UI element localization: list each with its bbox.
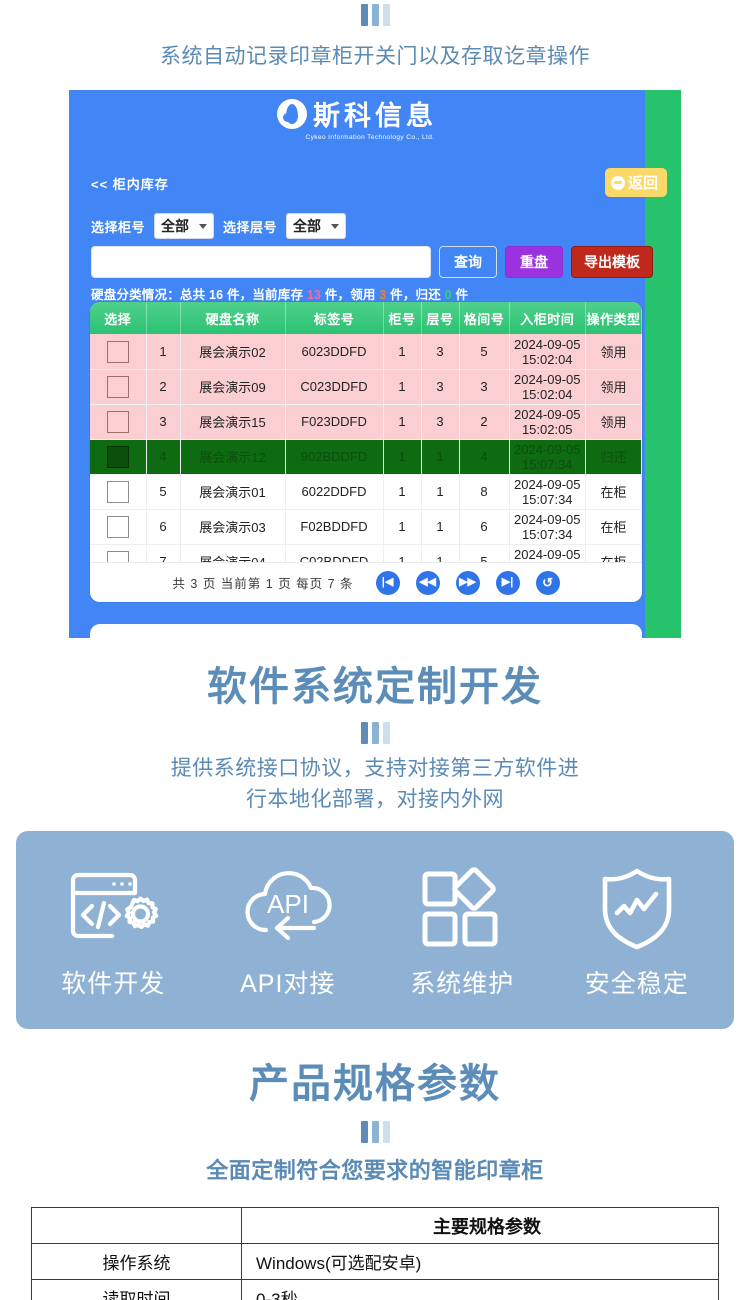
row-layer-no: 3 (421, 404, 459, 439)
col-in-time: 入柜时间 (509, 302, 586, 334)
spec-row-value: 0-3秒 (242, 1280, 719, 1300)
feature-security-stability[interactable]: 安全稳定 (553, 860, 721, 1000)
col-index (146, 302, 180, 334)
spec-row-key: 读取时间 (32, 1280, 242, 1300)
spec-header-value: 主要规格参数 (242, 1208, 719, 1244)
row-cell-no: 5 (459, 334, 509, 369)
spec-row: 读取时间0-3秒 (32, 1280, 719, 1300)
col-tag-number: 标签号 (285, 302, 383, 334)
row-operation: 领用 (586, 334, 642, 369)
row-index: 5 (146, 474, 180, 509)
spec-section-subtitle: 全面定制符合您要求的智能印章柜 (0, 1155, 750, 1187)
col-select: 选择 (90, 302, 146, 334)
search-row: 查询 重盘 导出模板 (91, 246, 667, 278)
filter-row: 选择柜号 全部 选择层号 全部 (91, 213, 346, 239)
row-operation: 领用 (586, 369, 642, 404)
row-checkbox[interactable] (107, 411, 129, 433)
row-in-time: 2024-09-05 15:07:34 (509, 439, 586, 474)
stats-line: 硬盘分类情况：总共 16 件，当前库存 13 件，领用 3 件，归还 0 件 (91, 284, 468, 303)
row-disk-name: 展会演示12 (180, 439, 285, 474)
feature-software-development[interactable]: 软件开发 (29, 860, 197, 1000)
layer-select-value: 全部 (293, 216, 321, 236)
col-cell-no: 格间号 (459, 302, 509, 334)
row-operation: 领用 (586, 404, 642, 439)
row-tag-number: F02BDDFD (285, 509, 383, 544)
next-page-icon[interactable]: ▶▶ (456, 571, 480, 595)
breadcrumb[interactable]: << 柜内库存 (91, 174, 169, 193)
row-in-time: 2024-09-05 15:02:05 (509, 404, 586, 439)
row-checkbox-cell[interactable] (90, 509, 146, 544)
refresh-icon[interactable]: ↺ (536, 571, 560, 595)
cabinet-filter-label: 选择柜号 (91, 217, 145, 236)
spec-row-key: 操作系统 (32, 1244, 242, 1280)
table-head: 选择 硬盘名称 标签号 柜号 层号 格间号 入柜时间 操作类型 (90, 302, 642, 334)
row-index: 2 (146, 369, 180, 404)
spec-row-value: Windows(可选配安卓) (242, 1244, 719, 1280)
row-checkbox-cell[interactable] (90, 334, 146, 369)
next-card-peek (90, 624, 642, 638)
last-page-icon[interactable]: ▶| (496, 571, 520, 595)
row-disk-name: 展会演示09 (180, 369, 285, 404)
feature-label: 系统维护 (410, 964, 514, 1000)
inventory-table-card: 选择 硬盘名称 标签号 柜号 层号 格间号 入柜时间 操作类型 1展会演示026… (90, 302, 642, 602)
feature-system-maintenance[interactable]: 系统维护 (378, 860, 546, 1000)
decorative-bars-software (0, 722, 750, 744)
row-cabinet-no: 1 (383, 404, 421, 439)
layer-filter-label: 选择层号 (223, 217, 277, 236)
export-template-button[interactable]: 导出模板 (571, 246, 653, 278)
app-screenshot: 斯科信息 Cykeo Information Technology Co., L… (69, 90, 681, 638)
pagination-text: 共 3 页 当前第 1 页 每页 7 条 (172, 573, 353, 592)
stats-mid2: 件，归还 (386, 288, 444, 302)
row-checkbox[interactable] (107, 516, 129, 538)
table-row[interactable]: 6展会演示03F02BDDFD1162024-09-05 15:07:34在柜 (90, 509, 642, 544)
logo-english-name: Cykeo Information Technology Co., Ltd. (306, 134, 435, 141)
row-layer-no: 3 (421, 334, 459, 369)
software-section-title: 软件系统定制开发 (0, 654, 750, 712)
cabinet-select[interactable]: 全部 (154, 213, 214, 239)
row-index: 1 (146, 334, 180, 369)
row-checkbox-cell[interactable] (90, 404, 146, 439)
row-operation: 归还 (586, 439, 642, 474)
row-index: 4 (146, 439, 180, 474)
row-disk-name: 展会演示15 (180, 404, 285, 439)
row-cabinet-no: 1 (383, 334, 421, 369)
spec-table: 主要规格参数操作系统Windows(可选配安卓)读取时间0-3秒 (31, 1207, 719, 1300)
table-row[interactable]: 3展会演示15F023DDFD1322024-09-05 15:02:05领用 (90, 404, 642, 439)
row-checkbox-cell[interactable] (90, 369, 146, 404)
row-cabinet-no: 1 (383, 509, 421, 544)
row-layer-no: 1 (421, 509, 459, 544)
row-in-time: 2024-09-05 15:02:04 (509, 334, 586, 369)
row-layer-no: 3 (421, 369, 459, 404)
chevron-down-icon (331, 224, 339, 229)
query-button[interactable]: 查询 (439, 246, 497, 278)
row-layer-no: 1 (421, 474, 459, 509)
logo-chinese-name: 斯科信息 (313, 94, 437, 133)
spec-header-key (32, 1208, 242, 1244)
decorative-bars-top (0, 4, 750, 26)
table-row[interactable]: 5展会演示016022DDFD1182024-09-05 15:07:34在柜 (90, 474, 642, 509)
feature-label: 软件开发 (61, 964, 165, 1000)
back-arrow-icon (611, 176, 625, 190)
row-checkbox[interactable] (107, 446, 129, 468)
app-logo: 斯科信息 Cykeo Information Technology Co., L… (69, 94, 681, 141)
spec-row: 操作系统Windows(可选配安卓) (32, 1244, 719, 1280)
software-section-subtitle: 提供系统接口协议，支持对接第三方软件进 行本地化部署，对接内外网 (0, 754, 750, 815)
chevron-down-icon (199, 224, 207, 229)
cabinet-select-value: 全部 (161, 216, 189, 236)
row-checkbox-cell[interactable] (90, 474, 146, 509)
row-checkbox[interactable] (107, 481, 129, 503)
search-input[interactable] (91, 246, 431, 278)
row-cabinet-no: 1 (383, 439, 421, 474)
row-checkbox-cell[interactable] (90, 439, 146, 474)
row-in-time: 2024-09-05 15:07:34 (509, 509, 586, 544)
api-cloud-icon: API (238, 860, 338, 956)
row-in-time: 2024-09-05 15:02:04 (509, 369, 586, 404)
spec-table-body: 主要规格参数操作系统Windows(可选配安卓)读取时间0-3秒 (32, 1208, 719, 1300)
row-cell-no: 3 (459, 369, 509, 404)
col-cabinet-no: 柜号 (383, 302, 421, 334)
row-tag-number: 6023DDFD (285, 334, 383, 369)
row-cell-no: 2 (459, 404, 509, 439)
table-row[interactable]: 2展会演示09C023DDFD1332024-09-05 15:02:04领用 (90, 369, 642, 404)
row-cell-no: 4 (459, 439, 509, 474)
stats-suffix: 件 (452, 288, 468, 302)
caption-text: 系统自动记录印章柜开关门以及存取讫章操作 (0, 42, 750, 72)
stats-returned-count: 0 (445, 288, 452, 302)
row-disk-name: 展会演示02 (180, 334, 285, 369)
col-disk-name: 硬盘名称 (180, 302, 285, 334)
row-tag-number: F023DDFD (285, 404, 383, 439)
product-detail-page: 系统自动记录印章柜开关门以及存取讫章操作 斯科信息 Cykeo Informat… (0, 4, 750, 1300)
row-in-time: 2024-09-05 15:07:34 (509, 474, 586, 509)
feature-api-docking[interactable]: API API对接 (204, 860, 372, 1000)
table-row[interactable]: 4展会演示12902BDDFD1142024-09-05 15:07:34归还 (90, 439, 642, 474)
feature-label: 安全稳定 (585, 964, 689, 1000)
row-index: 3 (146, 404, 180, 439)
stats-mid1: 件，领用 (321, 288, 379, 302)
stats-prefix: 硬盘分类情况：总共 16 件，当前库存 (91, 288, 307, 302)
row-cell-no: 6 (459, 509, 509, 544)
brand-swirl-icon (277, 99, 307, 129)
row-index: 6 (146, 509, 180, 544)
decorative-bars-spec (0, 1121, 750, 1143)
row-cabinet-no: 1 (383, 474, 421, 509)
row-tag-number: C023DDFD (285, 369, 383, 404)
row-disk-name: 展会演示01 (180, 474, 285, 509)
stats-stock-count: 13 (307, 288, 321, 302)
inventory-table: 选择 硬盘名称 标签号 柜号 层号 格间号 入柜时间 操作类型 1展会演示026… (90, 302, 642, 580)
col-operation: 操作类型 (586, 302, 642, 334)
code-window-gear-icon (67, 860, 159, 956)
row-tag-number: 902BDDFD (285, 439, 383, 474)
row-operation: 在柜 (586, 509, 642, 544)
modules-grid-icon (419, 860, 505, 956)
table-body: 1展会演示026023DDFD1352024-09-05 15:02:04领用2… (90, 334, 642, 579)
first-page-icon[interactable]: |◀ (376, 571, 400, 595)
row-layer-no: 1 (421, 439, 459, 474)
feature-strip: 软件开发 API API对接 (16, 831, 734, 1029)
spec-section-title: 产品规格参数 (0, 1051, 750, 1109)
row-cell-no: 8 (459, 474, 509, 509)
svg-text:API: API (267, 889, 309, 919)
table-row[interactable]: 1展会演示026023DDFD1352024-09-05 15:02:04领用 (90, 334, 642, 369)
prev-page-icon[interactable]: ◀◀ (416, 571, 440, 595)
spec-header-row: 主要规格参数 (32, 1208, 719, 1244)
row-cabinet-no: 1 (383, 369, 421, 404)
feature-label: API对接 (240, 964, 335, 1000)
col-layer-no: 层号 (421, 302, 459, 334)
row-operation: 在柜 (586, 474, 642, 509)
shield-chart-icon (595, 860, 679, 956)
row-checkbox[interactable] (107, 376, 129, 398)
pagination-bar: 共 3 页 当前第 1 页 每页 7 条 |◀ ◀◀ ▶▶ ▶| ↺ (90, 562, 642, 602)
back-button-label: 返回 (628, 172, 658, 193)
recount-button[interactable]: 重盘 (505, 246, 563, 278)
row-tag-number: 6022DDFD (285, 474, 383, 509)
row-disk-name: 展会演示03 (180, 509, 285, 544)
table-header-row: 选择 硬盘名称 标签号 柜号 层号 格间号 入柜时间 操作类型 (90, 302, 642, 334)
layer-select[interactable]: 全部 (286, 213, 346, 239)
back-button[interactable]: 返回 (605, 168, 667, 197)
row-checkbox[interactable] (107, 341, 129, 363)
